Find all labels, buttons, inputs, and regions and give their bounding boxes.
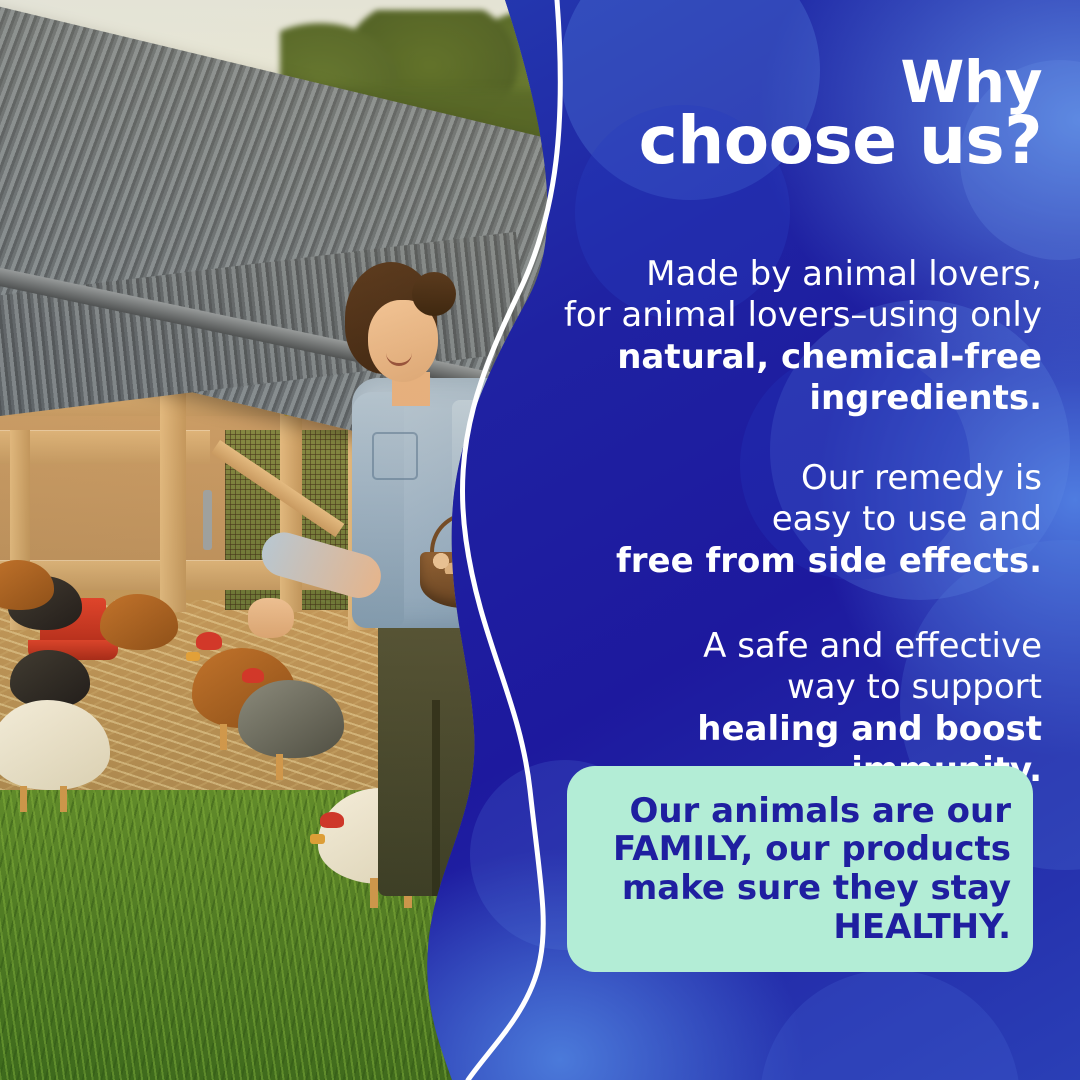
hen-speckled-2-leg bbox=[276, 754, 283, 780]
para-2-line-2: easy to use and bbox=[772, 499, 1042, 539]
paragraph-easy-no-side-effects: Our remedy is easy to use and free from … bbox=[540, 458, 1042, 582]
highlight-line-3: make sure they stay bbox=[622, 868, 1011, 908]
highlight-line-4: HEALTHY. bbox=[833, 907, 1011, 947]
hen-speckled-2-comb bbox=[242, 668, 264, 683]
highlight-line-1: Our animals are our bbox=[629, 791, 1011, 831]
para-1-line-2: for animal lovers–using only bbox=[564, 295, 1042, 335]
hen-white-2-beak bbox=[310, 834, 325, 844]
hen-brown-3-leg bbox=[220, 724, 227, 750]
paragraph-natural-ingredients: Made by animal lovers, for animal lovers… bbox=[540, 254, 1042, 420]
title-line-2: choose us? bbox=[540, 110, 1042, 172]
promo-card: Why choose us? Made by animal lovers, fo… bbox=[0, 0, 1080, 1080]
hen-brown-3-beak bbox=[186, 652, 200, 661]
para-3-line-2: way to support bbox=[787, 667, 1042, 707]
para-1-line-1: Made by animal lovers, bbox=[646, 254, 1042, 294]
para-1-line-4: ingredients. bbox=[809, 378, 1042, 418]
coop-door-latch bbox=[203, 490, 212, 550]
highlight-line-2: FAMILY, our products bbox=[613, 829, 1011, 869]
hen-brown-3-comb bbox=[196, 632, 222, 650]
page-title: Why choose us? bbox=[540, 55, 1042, 172]
para-2-line-1: Our remedy is bbox=[801, 458, 1042, 498]
para-2-line-3: free from side effects. bbox=[616, 541, 1042, 581]
para-1-line-3: natural, chemical-free bbox=[617, 337, 1042, 377]
hen-white-1-leg bbox=[20, 786, 27, 812]
para-3-line-1: A safe and effective bbox=[703, 626, 1042, 666]
highlight-callout-box: Our animals are our FAMILY, our products… bbox=[567, 766, 1033, 972]
hen-white-2-leg bbox=[370, 878, 378, 908]
woman-hair-bun bbox=[412, 272, 456, 316]
hen-white-2-comb bbox=[320, 812, 344, 828]
content-column: Why choose us? Made by animal lovers, fo… bbox=[540, 0, 1080, 1080]
highlight-text: Our animals are our FAMILY, our products… bbox=[613, 792, 1011, 947]
hen-white-1-leg-2 bbox=[60, 786, 67, 812]
woman-left-hand bbox=[248, 598, 294, 638]
woman-trousers-seam bbox=[432, 700, 440, 896]
woman-shirt-pocket bbox=[372, 432, 418, 480]
